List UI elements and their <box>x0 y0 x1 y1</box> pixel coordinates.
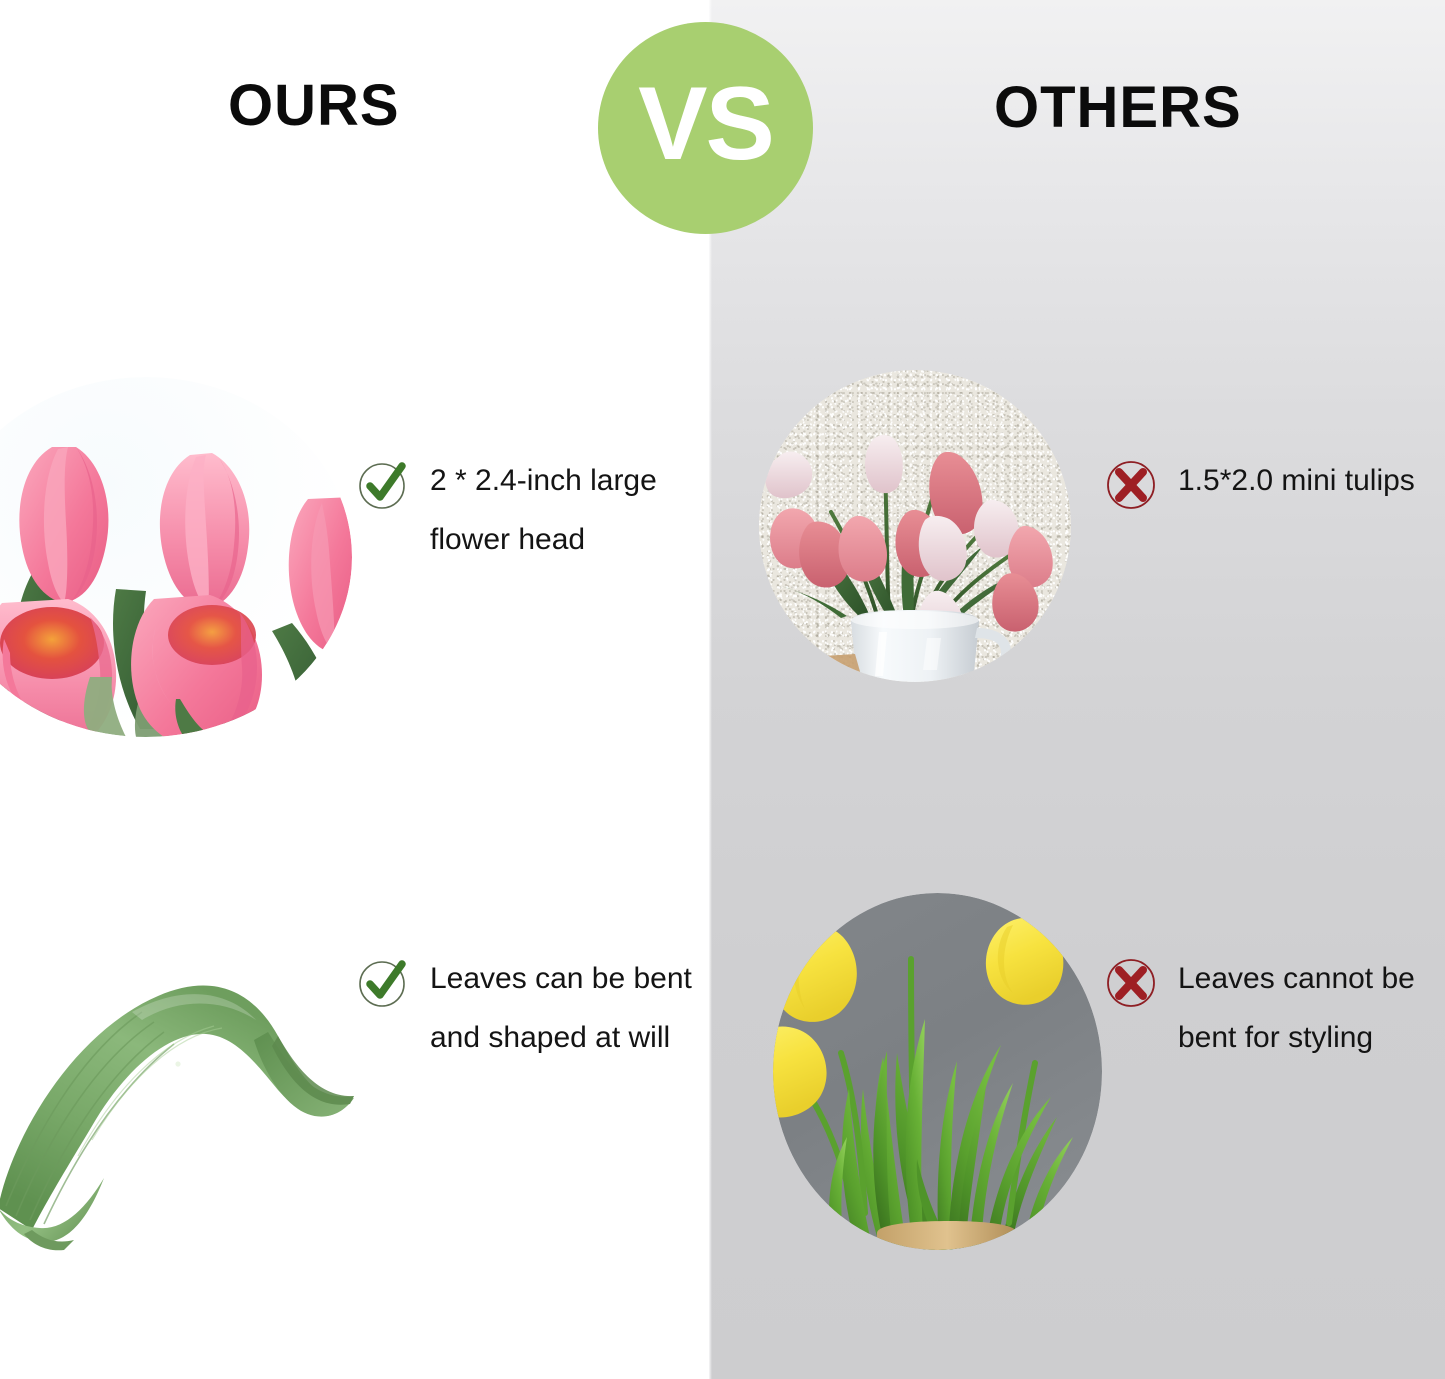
feature-label: 2 * 2.4-inch large flower head <box>430 452 680 569</box>
feature-ours-bendable-leaves: Leaves can be bent and shaped at will <box>356 950 700 1067</box>
vase-mini-tulips-photo <box>759 370 1071 682</box>
feature-others-stiff-leaves: Leaves cannot be bent for styling <box>1104 950 1428 1067</box>
feature-label: Leaves can be bent and shaped at will <box>430 950 700 1067</box>
others-heading: OTHERS <box>994 74 1242 141</box>
comparison-infographic: OURS OTHERS VS <box>0 0 1445 1379</box>
yellow-tulips-photo <box>773 893 1102 1250</box>
check-circle-icon <box>356 956 410 1010</box>
feature-others-mini-tulips: 1.5*2.0 mini tulips <box>1104 452 1415 512</box>
ours-heading: OURS <box>228 72 400 139</box>
check-circle-icon <box>356 458 410 512</box>
cross-circle-icon <box>1104 458 1158 512</box>
vs-badge: VS <box>598 22 813 234</box>
vs-label: VS <box>638 72 773 176</box>
bent-leaf-photo <box>0 940 372 1270</box>
cross-circle-icon <box>1104 956 1158 1010</box>
feature-ours-flower-head: 2 * 2.4-inch large flower head <box>356 452 680 569</box>
feature-label: 1.5*2.0 mini tulips <box>1178 452 1415 511</box>
feature-label: Leaves cannot be bent for styling <box>1178 950 1428 1067</box>
